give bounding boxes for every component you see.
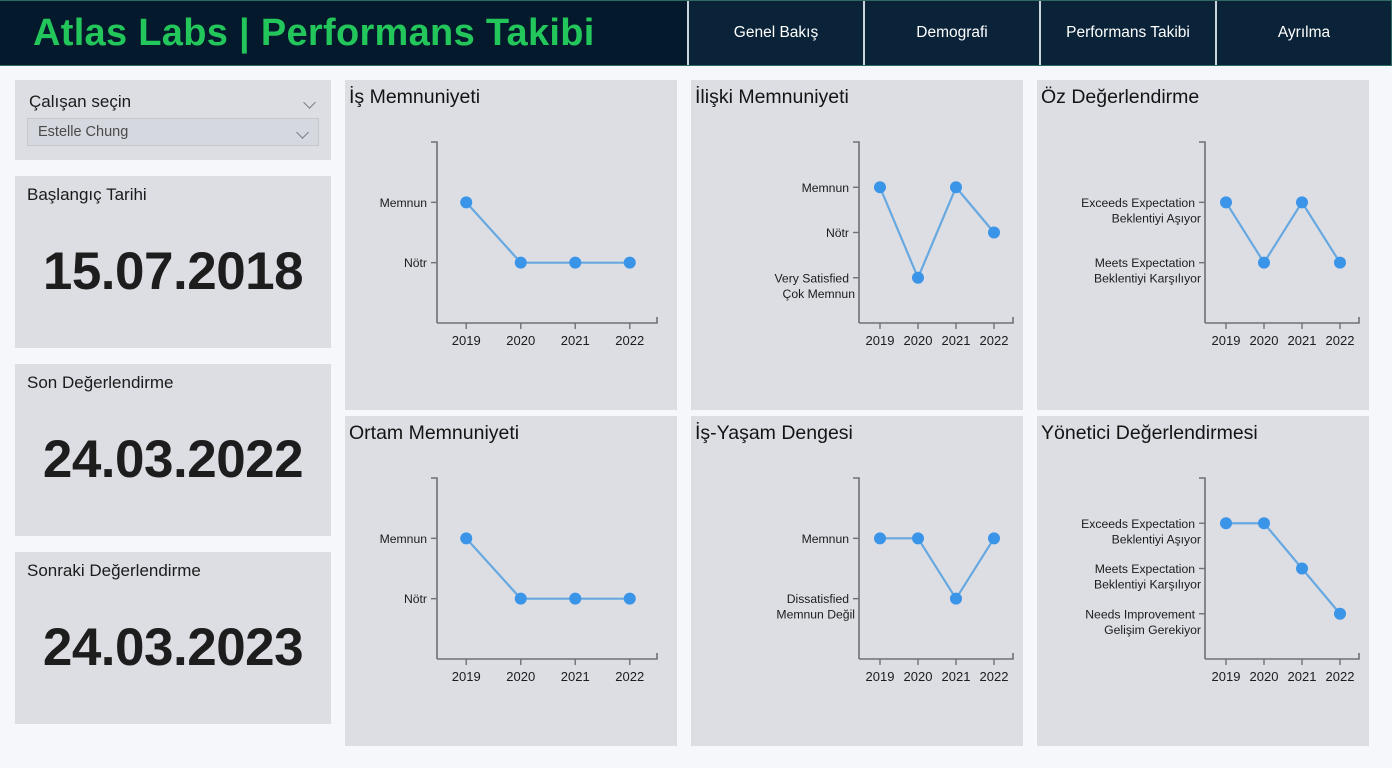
y-tick-label: Exceeds Expectation: [1081, 517, 1195, 531]
employee-select-input[interactable]: Estelle Chung: [27, 118, 319, 146]
chart-svg: MemnunDissatisfiedMemnun Değil2019202020…: [691, 416, 1023, 746]
chart-svg: Exceeds ExpectationBeklentiyi AşıyorMeet…: [1037, 416, 1369, 746]
nav-tab-label: Demografi: [916, 24, 988, 42]
chevron-down-icon[interactable]: [304, 98, 317, 106]
x-tick-label: 2021: [1288, 333, 1317, 348]
sidebar: Çalışan seçin Estelle Chung Başlangıç Ta…: [15, 80, 331, 740]
data-point[interactable]: [1220, 517, 1232, 529]
data-point[interactable]: [874, 181, 886, 193]
chart-card-ortam-memnuniyeti[interactable]: Ortam MemnuniyetiMemnunNötr2019202020212…: [345, 416, 677, 746]
nav-tab-label: Ayrılma: [1278, 24, 1330, 42]
data-point[interactable]: [1220, 196, 1232, 208]
chevron-down-icon[interactable]: [297, 128, 310, 136]
data-point[interactable]: [460, 532, 472, 544]
series-line: [1226, 523, 1340, 614]
slicer-header[interactable]: Çalışan seçin: [27, 90, 319, 118]
data-point[interactable]: [515, 257, 527, 269]
kpi-card-last-review: Son Değerlendirme 24.03.2022: [15, 364, 331, 536]
chart-card-is-memnuniyeti[interactable]: İş MemnuniyetiMemnunNötr2019202020212022: [345, 80, 677, 410]
y-tick-label: Dissatisfied: [787, 592, 849, 606]
kpi-card-start-date: Başlangıç Tarihi 15.07.2018: [15, 176, 331, 348]
y-tick-label-secondary: Gelişim Gerekiyor: [1104, 623, 1201, 637]
data-point[interactable]: [988, 532, 1000, 544]
selected-employee-value: Estelle Chung: [38, 124, 128, 140]
nav-tabs: Genel BakışDemografiPerformans TakibiAyr…: [689, 1, 1391, 65]
x-tick-label: 2020: [1250, 333, 1279, 348]
nav-tab-label: Genel Bakış: [734, 24, 818, 42]
data-point[interactable]: [874, 532, 886, 544]
y-tick-label-secondary: Beklentiyi Aşıyor: [1112, 211, 1201, 225]
chart-card-oz-degerlendirme[interactable]: Öz DeğerlendirmeExceeds ExpectationBekle…: [1037, 80, 1369, 410]
y-tick-label: Needs Improvement: [1085, 607, 1195, 621]
x-tick-label: 2020: [506, 333, 535, 348]
nav-tab-1[interactable]: Demografi: [865, 1, 1041, 65]
data-point[interactable]: [460, 196, 472, 208]
x-tick-label: 2021: [942, 669, 971, 684]
nav-tab-label: Performans Takibi: [1066, 24, 1190, 42]
x-tick-label: 2020: [506, 669, 535, 684]
x-tick-label: 2019: [452, 669, 481, 684]
data-point[interactable]: [624, 257, 636, 269]
series-line: [1226, 202, 1340, 262]
data-point[interactable]: [1258, 257, 1270, 269]
employee-slicer[interactable]: Çalışan seçin Estelle Chung: [15, 80, 331, 160]
y-tick-label-secondary: Beklentiyi Karşılıyor: [1094, 578, 1201, 592]
y-tick-label: Meets Expectation: [1095, 562, 1195, 576]
chart-svg: MemnunNötr2019202020212022: [345, 80, 677, 410]
y-tick-label: Nötr: [826, 226, 849, 240]
kpi-label: Sonraki Değerlendirme: [27, 561, 201, 581]
y-tick-label-secondary: Beklentiyi Karşılıyor: [1094, 272, 1201, 286]
y-tick-label: Memnun: [380, 532, 427, 546]
y-tick-label: Meets Expectation: [1095, 256, 1195, 270]
x-tick-label: 2021: [1288, 669, 1317, 684]
data-point[interactable]: [1334, 608, 1346, 620]
x-tick-label: 2019: [866, 333, 895, 348]
y-tick-label-secondary: Memnun Değil: [776, 608, 855, 622]
y-tick-label: Nötr: [404, 256, 427, 270]
data-point[interactable]: [569, 257, 581, 269]
x-tick-label: 2019: [1212, 669, 1241, 684]
data-point[interactable]: [988, 227, 1000, 239]
app-title: Atlas Labs | Performans Takibi: [33, 12, 595, 55]
data-point[interactable]: [1296, 196, 1308, 208]
chart-svg: Exceeds ExpectationBeklentiyi AşıyorMeet…: [1037, 80, 1369, 410]
x-tick-label: 2022: [1326, 669, 1355, 684]
x-tick-label: 2019: [1212, 333, 1241, 348]
kpi-card-next-review: Sonraki Değerlendirme 24.03.2023: [15, 552, 331, 724]
y-tick-label: Exceeds Expectation: [1081, 196, 1195, 210]
nav-tab-0[interactable]: Genel Bakış: [689, 1, 865, 65]
x-tick-label: 2022: [980, 333, 1009, 348]
y-tick-label: Nötr: [404, 592, 427, 606]
x-tick-label: 2021: [561, 333, 590, 348]
app-header: Atlas Labs | Performans Takibi Genel Bak…: [0, 0, 1392, 66]
x-tick-label: 2019: [452, 333, 481, 348]
x-tick-label: 2021: [942, 333, 971, 348]
data-point[interactable]: [1296, 563, 1308, 575]
y-tick-label: Very Satisfied: [774, 271, 849, 285]
kpi-label: Son Değerlendirme: [27, 373, 173, 393]
nav-tab-3[interactable]: Ayrılma: [1217, 1, 1391, 65]
data-point[interactable]: [1258, 517, 1270, 529]
data-point[interactable]: [912, 272, 924, 284]
data-point[interactable]: [569, 593, 581, 605]
chart-card-iliski-memnuniyeti[interactable]: İlişki MemnuniyetiMemnunNötrVery Satisfi…: [691, 80, 1023, 410]
chart-svg: MemnunNötrVery SatisfiedÇok Memnun201920…: [691, 80, 1023, 410]
data-point[interactable]: [950, 593, 962, 605]
nav-tab-2[interactable]: Performans Takibi: [1041, 1, 1217, 65]
brand-block: Atlas Labs | Performans Takibi: [0, 1, 689, 65]
chart-grid: İş MemnuniyetiMemnunNötr2019202020212022…: [345, 80, 1379, 746]
kpi-label: Başlangıç Tarihi: [27, 185, 147, 205]
series-line: [466, 538, 630, 598]
y-tick-label: Memnun: [802, 181, 849, 195]
series-line: [880, 187, 994, 278]
y-tick-label-secondary: Beklentiyi Aşıyor: [1112, 532, 1201, 546]
y-tick-label: Memnun: [380, 196, 427, 210]
data-point[interactable]: [1334, 257, 1346, 269]
x-tick-label: 2022: [615, 333, 644, 348]
data-point[interactable]: [624, 593, 636, 605]
x-tick-label: 2020: [904, 669, 933, 684]
x-tick-label: 2022: [980, 669, 1009, 684]
y-tick-label: Memnun: [802, 532, 849, 546]
chart-card-yonetici-degerlendirmesi[interactable]: Yönetici DeğerlendirmesiExceeds Expectat…: [1037, 416, 1369, 746]
series-line: [880, 538, 994, 598]
x-tick-label: 2020: [1250, 669, 1279, 684]
x-tick-label: 2022: [1326, 333, 1355, 348]
chart-svg: MemnunNötr2019202020212022: [345, 416, 677, 746]
series-line: [466, 202, 630, 262]
chart-card-is-yasam-dengesi[interactable]: İş-Yaşam DengesiMemnunDissatisfiedMemnun…: [691, 416, 1023, 746]
slicer-title: Çalışan seçin: [29, 92, 131, 112]
data-point[interactable]: [515, 593, 527, 605]
x-tick-label: 2022: [615, 669, 644, 684]
y-tick-label-secondary: Çok Memnun: [783, 287, 855, 301]
data-point[interactable]: [950, 181, 962, 193]
data-point[interactable]: [912, 532, 924, 544]
x-tick-label: 2019: [866, 669, 895, 684]
x-tick-label: 2021: [561, 669, 590, 684]
x-tick-label: 2020: [904, 333, 933, 348]
